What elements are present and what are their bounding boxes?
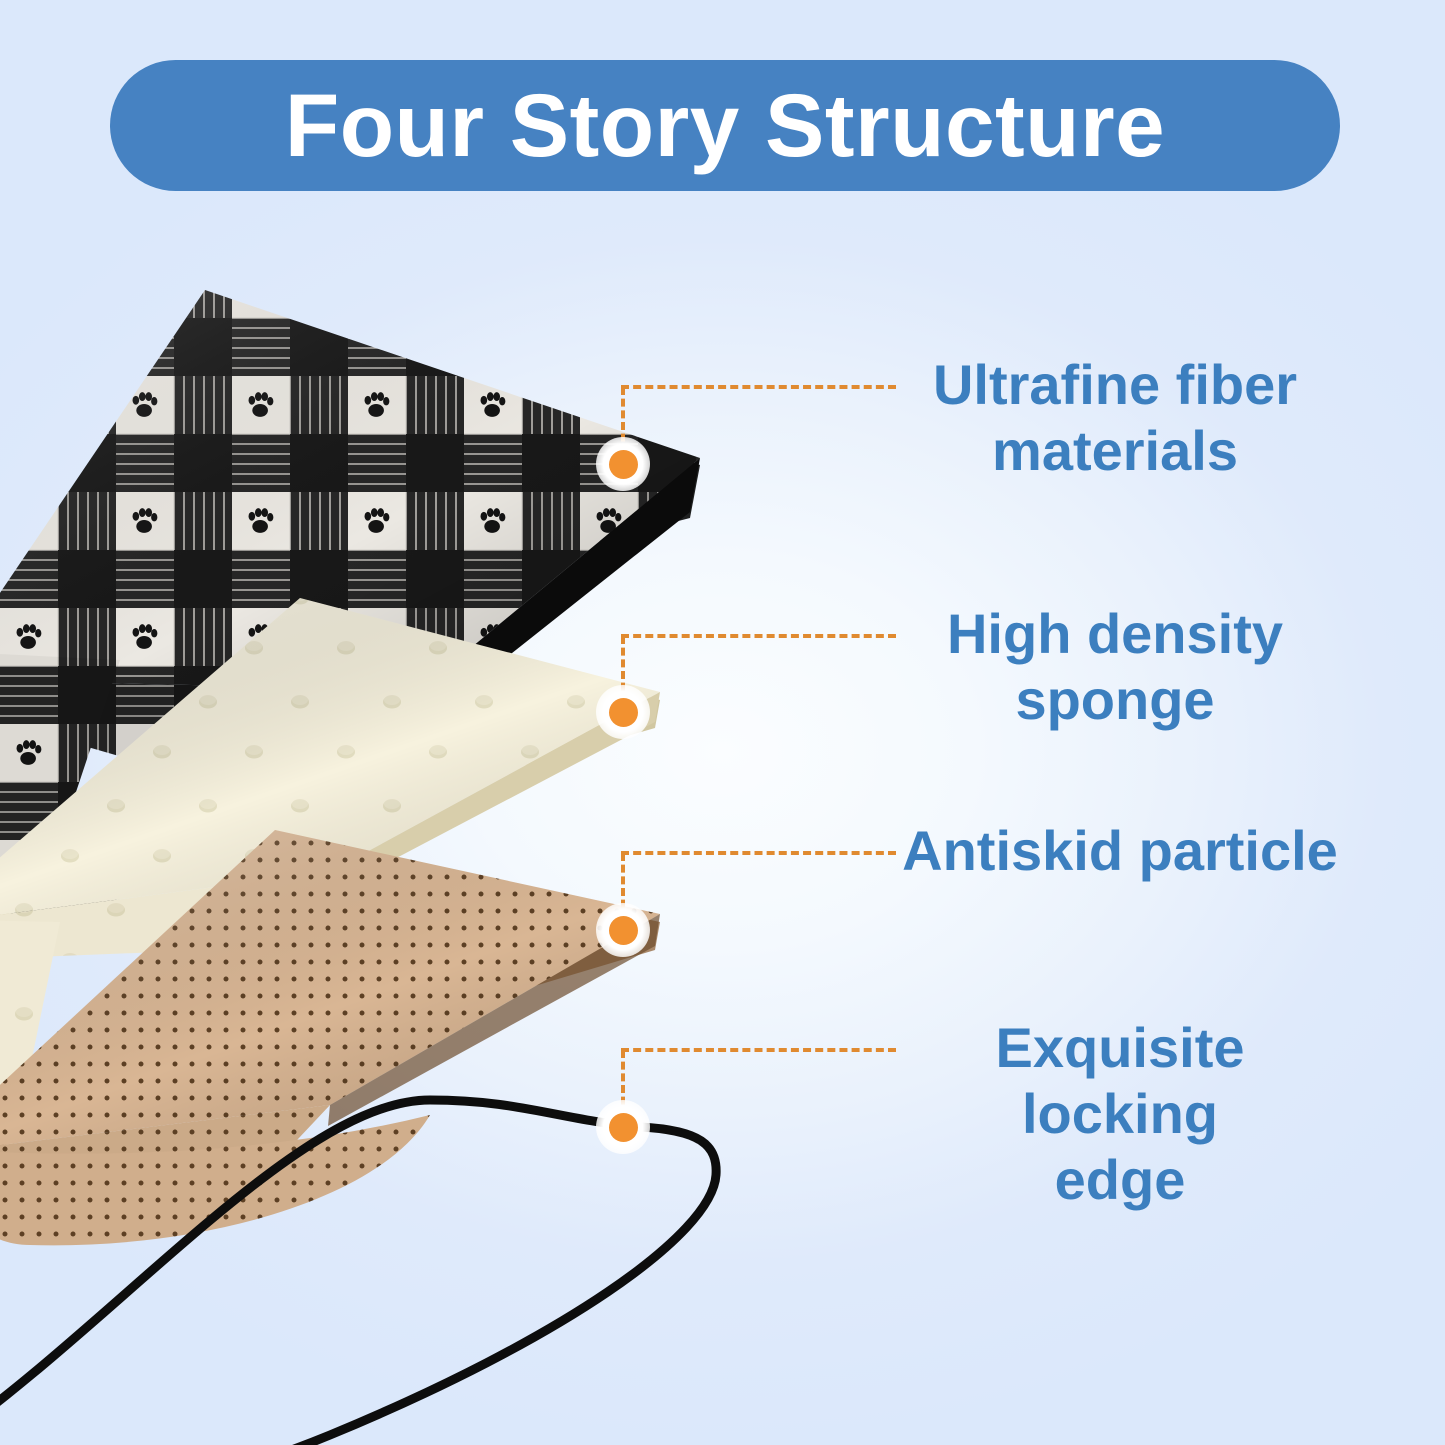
callout-label-4: Exquisite locking edge: [890, 1015, 1350, 1213]
callout-label-2-line-1: High density: [905, 601, 1325, 667]
leader-horizontal-segment-3: [621, 851, 896, 855]
callout-dot-icon-4: [609, 1113, 638, 1142]
callout-label-2: High density sponge: [905, 601, 1325, 733]
callout-marker-4[interactable]: [596, 1100, 650, 1154]
leader-horizontal-segment-4: [621, 1048, 896, 1052]
callout-marker-2[interactable]: [596, 685, 650, 739]
title-banner: Four Story Structure: [110, 60, 1340, 191]
callout-dot-icon-1: [609, 450, 638, 479]
callout-label-2-line-2: sponge: [905, 667, 1325, 733]
callout-label-1-line-2: materials: [905, 418, 1325, 484]
leader-horizontal-segment-2: [621, 634, 896, 638]
callout-label-3-line-1: Antiskid particle: [895, 818, 1345, 884]
callout-marker-3[interactable]: [596, 903, 650, 957]
callout-label-3: Antiskid particle: [895, 818, 1345, 884]
callout-label-4-line-1: Exquisite locking: [890, 1015, 1350, 1147]
leader-horizontal-segment-1: [621, 385, 896, 389]
callout-dot-icon-3: [609, 916, 638, 945]
product-infographic: Four Story Structure: [0, 0, 1445, 1445]
callout-marker-1[interactable]: [596, 437, 650, 491]
callout-label-4-line-2: edge: [890, 1147, 1350, 1213]
page-title: Four Story Structure: [285, 81, 1165, 170]
callout-label-1: Ultrafine fiber materials: [905, 352, 1325, 484]
callout-label-1-line-1: Ultrafine fiber: [905, 352, 1325, 418]
callout-dot-icon-2: [609, 698, 638, 727]
